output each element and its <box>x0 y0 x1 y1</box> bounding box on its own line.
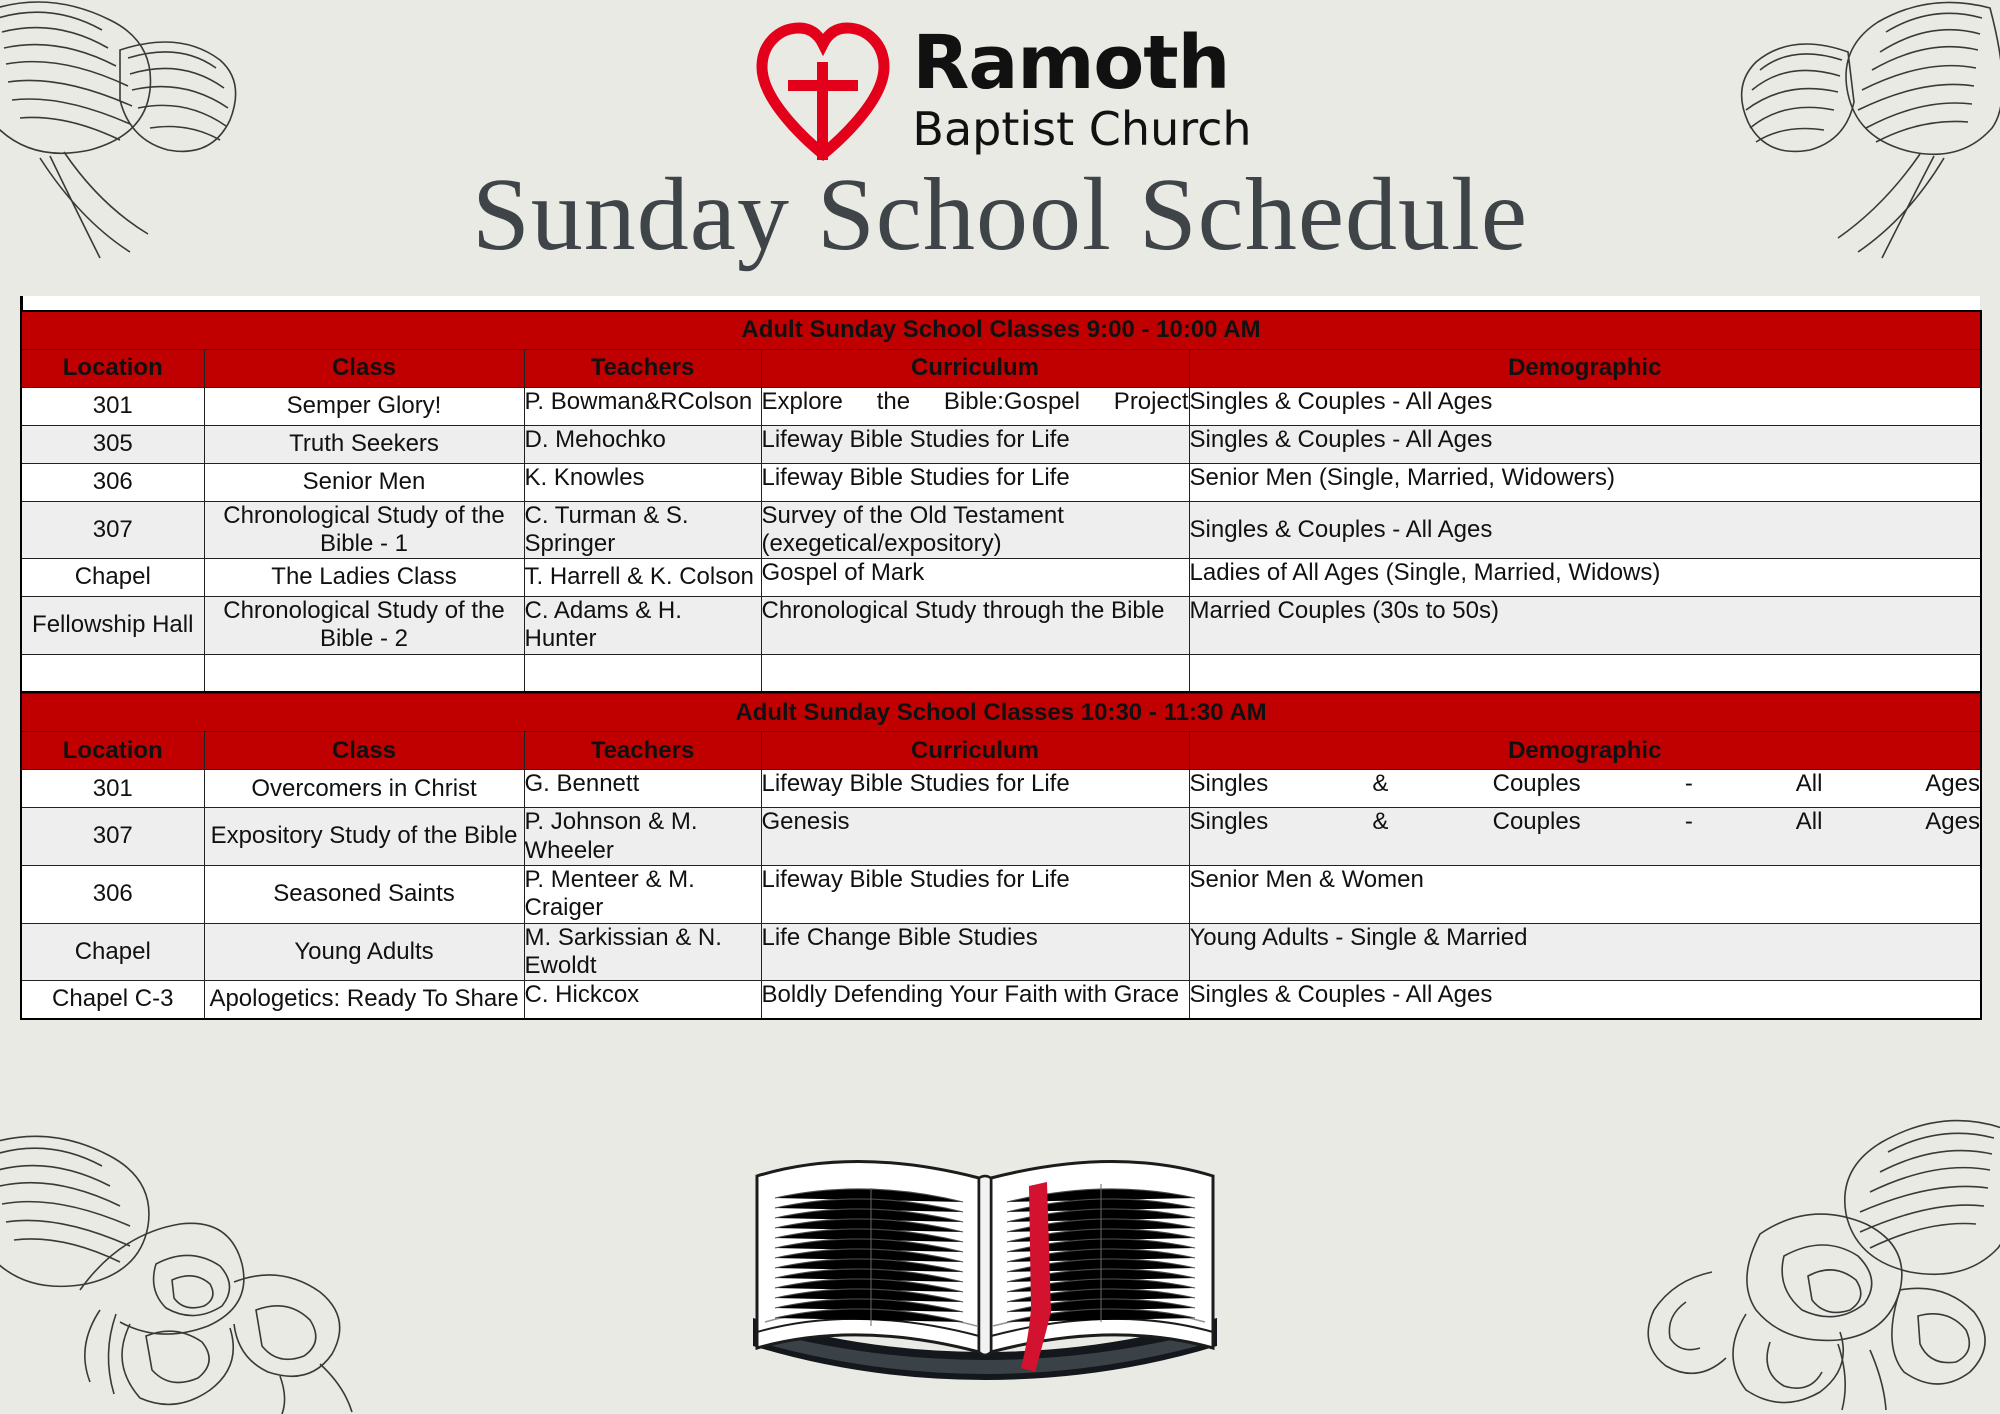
table-row: 305 Truth Seekers D. Mehochko Lifeway Bi… <box>21 425 1981 463</box>
column-header-location: Location <box>21 732 204 770</box>
cell-teachers: C. Hickcox <box>524 981 761 1019</box>
cell-teachers: M. Sarkissian & N. Ewoldt <box>524 923 761 981</box>
cell-location: 307 <box>21 501 204 559</box>
cell-curriculum: Lifeway Bible Studies for Life <box>761 770 1189 808</box>
cell-class: Chronological Study of the Bible - 2 <box>204 597 524 655</box>
cell-class: Overcomers in Christ <box>204 770 524 808</box>
sheet-top-strip <box>20 296 1980 310</box>
cell-teachers: P. Bowman&RColson <box>524 387 761 425</box>
table-row: Chapel The Ladies Class T. Harrell & K. … <box>21 559 1981 597</box>
spacer-cell <box>761 654 1189 692</box>
cell-class: Apologetics: Ready To Share <box>204 981 524 1019</box>
table-row: 307 Expository Study of the Bible P. Joh… <box>21 808 1981 866</box>
cell-class: Truth Seekers <box>204 425 524 463</box>
cell-location: 306 <box>21 865 204 923</box>
cell-teachers: C. Adams & H. Hunter <box>524 597 761 655</box>
cell-teachers: K. Knowles <box>524 463 761 501</box>
brand-lockup: Ramoth Baptist Church <box>0 14 2000 164</box>
cell-location: 301 <box>21 387 204 425</box>
table-row: 301 Semper Glory! P. Bowman&RColson Expl… <box>21 387 1981 425</box>
heart-cross-icon <box>748 14 898 164</box>
table-spacer-row <box>21 654 1981 692</box>
column-header-demographic: Demographic <box>1189 349 1981 387</box>
schedule-table-session-1: Adult Sunday School Classes 9:00 - 10:00… <box>20 310 1982 693</box>
cell-teachers: P. Menteer & M. Craiger <box>524 865 761 923</box>
session-band-title: Adult Sunday School Classes 9:00 - 10:00… <box>21 311 1981 349</box>
table-row: Fellowship Hall Chronological Study of t… <box>21 597 1981 655</box>
spacer-cell <box>204 654 524 692</box>
open-bible-illustration <box>735 1136 1235 1386</box>
column-header-curriculum: Curriculum <box>761 732 1189 770</box>
column-header-demographic: Demographic <box>1189 732 1981 770</box>
cell-demographic: Singles & Couples - All Ages <box>1189 387 1981 425</box>
page-header: Ramoth Baptist Church Sunday School Sche… <box>0 0 2000 269</box>
cell-location: 306 <box>21 463 204 501</box>
rose-flower-illustration-bottom-right <box>1570 1104 2000 1414</box>
cell-demographic: Ladies of All Ages (Single, Married, Wid… <box>1189 559 1981 597</box>
column-header-class: Class <box>204 349 524 387</box>
brand-subtitle: Baptist Church <box>912 106 1251 152</box>
cell-teachers: D. Mehochko <box>524 425 761 463</box>
cell-demographic: Senior Men (Single, Married, Widowers) <box>1189 463 1981 501</box>
cell-class: Chronological Study of the Bible - 1 <box>204 501 524 559</box>
table-row: 306 Seasoned Saints P. Menteer & M. Crai… <box>21 865 1981 923</box>
cell-location: Chapel <box>21 923 204 981</box>
cell-class: Semper Glory! <box>204 387 524 425</box>
cell-curriculum: Lifeway Bible Studies for Life <box>761 463 1189 501</box>
column-header-location: Location <box>21 349 204 387</box>
cell-demographic: Singles & Couples - All Ages <box>1189 770 1981 808</box>
cell-curriculum: Lifeway Bible Studies for Life <box>761 865 1189 923</box>
cell-demographic: Senior Men & Women <box>1189 865 1981 923</box>
cell-curriculum: Chronological Study through the Bible <box>761 597 1189 655</box>
cell-location: Chapel C-3 <box>21 981 204 1019</box>
schedule-sheet: Adult Sunday School Classes 9:00 - 10:00… <box>20 296 1980 1020</box>
spacer-cell <box>21 654 204 692</box>
cell-location: 305 <box>21 425 204 463</box>
cell-curriculum: Survey of the Old Testament (exegetical/… <box>761 501 1189 559</box>
cell-demographic: Married Couples (30s to 50s) <box>1189 597 1981 655</box>
cell-curriculum: Gospel of Mark <box>761 559 1189 597</box>
session-band-row: Adult Sunday School Classes 9:00 - 10:00… <box>21 311 1981 349</box>
cell-location: 301 <box>21 770 204 808</box>
cell-demographic: Singles & Couples - All Ages <box>1189 425 1981 463</box>
cell-curriculum: Explore the Bible:Gospel Project <box>761 387 1189 425</box>
column-header-row: Location Class Teachers Curriculum Demog… <box>21 349 1981 387</box>
rose-flower-illustration-bottom-left <box>0 1114 400 1414</box>
cell-curriculum: Boldly Defending Your Faith with Grace <box>761 981 1189 1019</box>
cell-location: Chapel <box>21 559 204 597</box>
cell-demographic: Young Adults - Single & Married <box>1189 923 1981 981</box>
table-row: Chapel C-3 Apologetics: Ready To Share C… <box>21 981 1981 1019</box>
cell-curriculum: Lifeway Bible Studies for Life <box>761 425 1189 463</box>
schedule-table-session-2: Adult Sunday School Classes 10:30 - 11:3… <box>20 693 1982 1019</box>
cell-teachers: P. Johnson & M. Wheeler <box>524 808 761 866</box>
brand-name: Ramoth <box>912 26 1251 100</box>
table-row: 301 Overcomers in Christ G. Bennett Life… <box>21 770 1981 808</box>
cell-class: Seasoned Saints <box>204 865 524 923</box>
cell-location: 307 <box>21 808 204 866</box>
column-header-teachers: Teachers <box>524 349 761 387</box>
cell-curriculum: Life Change Bible Studies <box>761 923 1189 981</box>
cell-class: Expository Study of the Bible <box>204 808 524 866</box>
column-header-curriculum: Curriculum <box>761 349 1189 387</box>
cell-class: The Ladies Class <box>204 559 524 597</box>
spacer-cell <box>1189 654 1981 692</box>
cell-teachers: T. Harrell & K. Colson <box>524 559 761 597</box>
cell-demographic: Singles & Couples - All Ages <box>1189 981 1981 1019</box>
column-header-row: Location Class Teachers Curriculum Demog… <box>21 732 1981 770</box>
cell-demographic: Singles & Couples - All Ages <box>1189 501 1981 559</box>
cell-curriculum: Genesis <box>761 808 1189 866</box>
cell-demographic: Singles & Couples - All Ages <box>1189 808 1981 866</box>
table-row: Chapel Young Adults M. Sarkissian & N. E… <box>21 923 1981 981</box>
cell-location: Fellowship Hall <box>21 597 204 655</box>
table-row: 306 Senior Men K. Knowles Lifeway Bible … <box>21 463 1981 501</box>
spacer-cell <box>524 654 761 692</box>
cell-teachers: G. Bennett <box>524 770 761 808</box>
column-header-class: Class <box>204 732 524 770</box>
cell-class: Young Adults <box>204 923 524 981</box>
session-band-row: Adult Sunday School Classes 10:30 - 11:3… <box>21 694 1981 732</box>
session-band-title: Adult Sunday School Classes 10:30 - 11:3… <box>21 694 1981 732</box>
cell-class: Senior Men <box>204 463 524 501</box>
cell-teachers: C. Turman & S. Springer <box>524 501 761 559</box>
table-row: 307 Chronological Study of the Bible - 1… <box>21 501 1981 559</box>
column-header-teachers: Teachers <box>524 732 761 770</box>
page-title: Sunday School Schedule <box>0 160 2000 269</box>
